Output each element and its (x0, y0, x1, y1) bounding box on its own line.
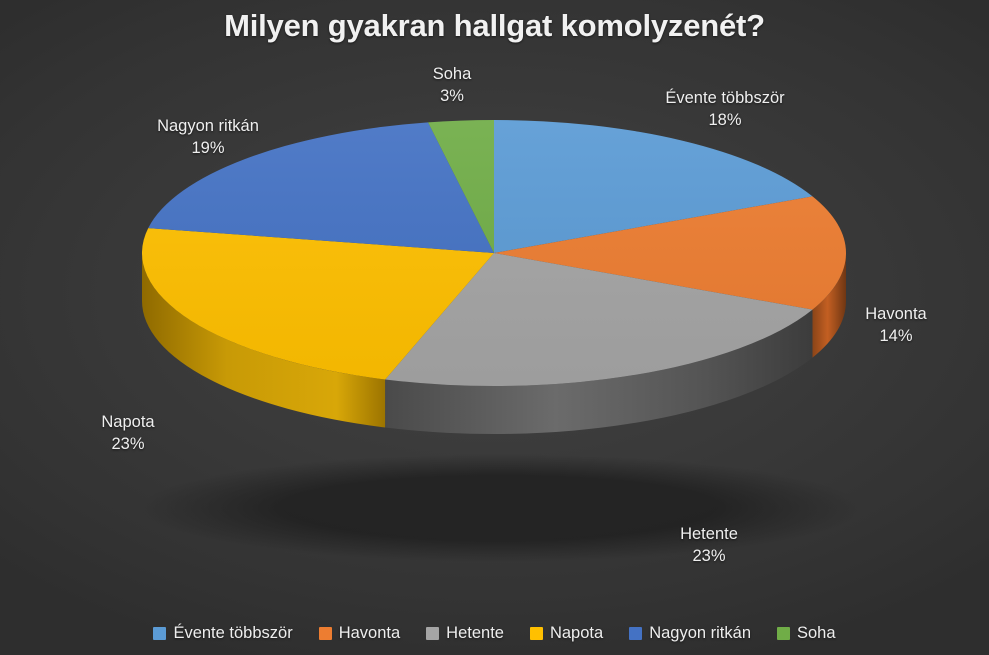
legend-item-label: Hetente (446, 624, 504, 643)
legend-item[interactable]: Soha (777, 624, 836, 643)
chart-legend[interactable]: Évente többszörHavontaHetenteNapotaNagyo… (0, 624, 989, 643)
legend-swatch-icon (319, 627, 332, 640)
pie-chart-slide: Milyen gyakran hallgat komolyzenét? (0, 0, 989, 655)
legend-item[interactable]: Hetente (426, 624, 504, 643)
legend-swatch-icon (530, 627, 543, 640)
legend-item[interactable]: Havonta (319, 624, 400, 643)
legend-item[interactable]: Nagyon ritkán (629, 624, 751, 643)
legend-item-label: Évente többször (173, 624, 292, 643)
pie-chart-graphic[interactable] (0, 0, 989, 600)
legend-swatch-icon (153, 627, 166, 640)
legend-swatch-icon (629, 627, 642, 640)
legend-item-label: Havonta (339, 624, 400, 643)
legend-swatch-icon (777, 627, 790, 640)
legend-item-label: Nagyon ritkán (649, 624, 751, 643)
pie-drop-shadow (140, 454, 860, 562)
pie-sheen (142, 120, 846, 386)
legend-item[interactable]: Napota (530, 624, 603, 643)
legend-item-label: Napota (550, 624, 603, 643)
legend-swatch-icon (426, 627, 439, 640)
legend-item-label: Soha (797, 624, 836, 643)
pie-svg[interactable] (0, 0, 989, 600)
legend-item[interactable]: Évente többször (153, 624, 292, 643)
